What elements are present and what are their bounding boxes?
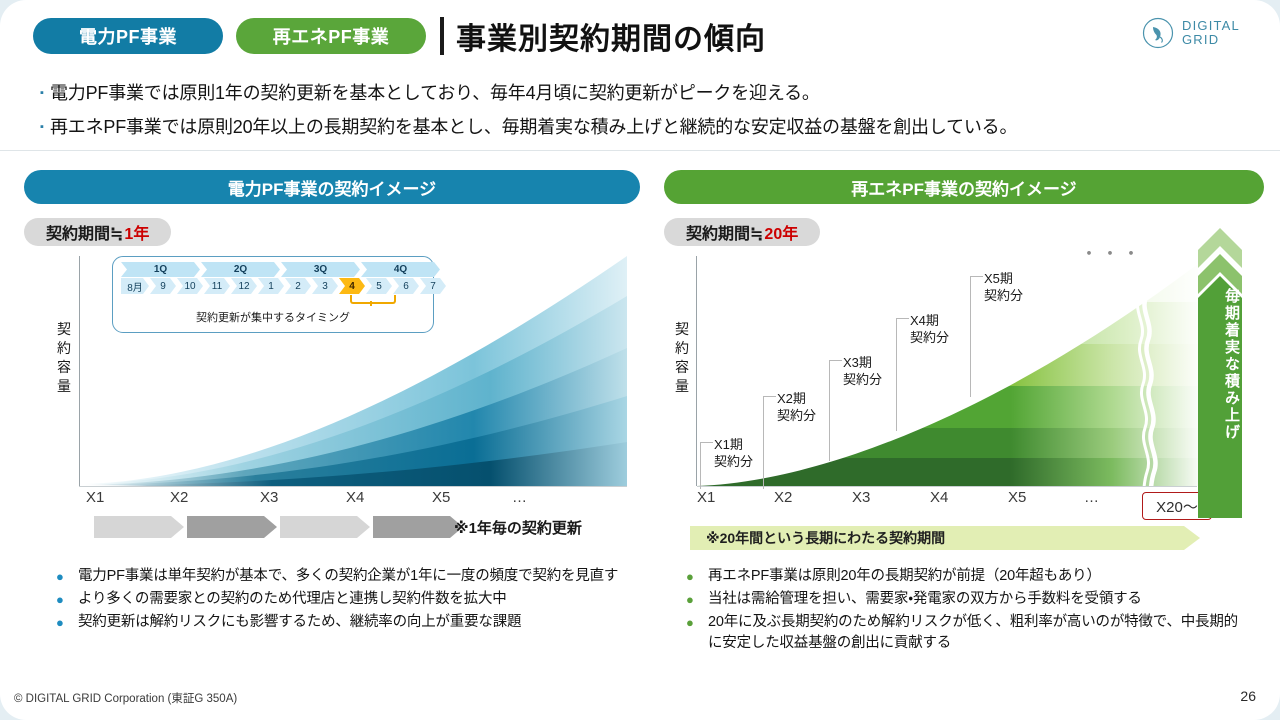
long-term-period-text: ※20年間という長期にわたる契約期間 [690,528,945,548]
left-bullet-text: 契約更新は解約リスクにも影響するため、継続率の向上が重要な課題 [78,612,521,633]
right-bullet-text: 再エネPF事業は原則20年の長期契約が前提（20年超もあり） [708,566,1101,587]
callout-leader-line [970,276,983,397]
callout-x4-line2: 契約分 [910,329,949,346]
callout-x5-line2: 契約分 [984,287,1023,304]
month-calendar-card: 1Q 2Q 3Q 4Q 8月 9 10 11 12 1 2 3 4 5 6 7 [112,256,434,333]
left-bullet-item: ● 契約更新は解約リスクにも影響するため、継続率の向上が重要な課題 [56,612,636,633]
left-contract-period-badge: 契約期間≒ 1年 [24,218,171,246]
left-badge-label: 契約期間≒ [46,220,123,244]
right-badge-value: 20年 [764,220,798,244]
right-bullet-text: 当社は需給管理を担い、需要家・発電家の双方から手数料を受領する [708,589,1142,610]
right-x-label: X5 [1008,489,1026,506]
month-cell: 5 [366,278,392,294]
brand-logo: DIGITAL GRID [1141,16,1240,50]
right-x-label: X2 [774,489,792,506]
month-bracket-stem-icon [370,301,372,306]
right-chart: 契約容量 ・・・ [664,248,1264,498]
right-x-label: X3 [852,489,870,506]
month-cell: 12 [231,278,257,294]
left-panel-header: 電力PF事業の契約イメージ [24,170,640,204]
header-divider [0,150,1280,151]
tag-saiene-pf: 再エネPF事業 [236,18,426,54]
right-x-label: X4 [930,489,948,506]
long-term-period-banner: ※20年間という長期にわたる契約期間 [690,526,1200,550]
right-x-label: … [1084,489,1099,506]
right-y-axis-label: 契約容量 [672,320,692,396]
month-cell: 2 [285,278,311,294]
bullet-dot-icon: ● [56,589,78,610]
right-bullet-item: ● 再エネPF事業は原則20年の長期契約が前提（20年超もあり） [686,566,1246,587]
left-y-axis-label: 契約容量 [54,320,74,396]
quarter-cell: 2Q [201,262,280,277]
left-bullet-item: ● より多くの需要家との契約のため代理店と連携し契約件数を拡大中 [56,589,636,610]
month-row: 8月 9 10 11 12 1 2 3 4 5 6 7 [121,278,447,294]
left-panel: 電力PF事業の契約イメージ 契約期間≒ 1年 [24,170,640,246]
renewal-arrow [280,516,370,538]
month-note-text: 契約更新が集中するタイミング [113,309,433,325]
summary-bullet-text: 電力PF事業では原則1年の契約更新を基本としており、毎年4月頃に契約更新がピーク… [50,80,820,106]
callout-x1-line1: X1期 [714,436,753,453]
right-bullet-item: ● 当社は需給管理を担い、需要家・発電家の双方から手数料を受領する [686,589,1246,610]
bullet-dot-icon: ● [686,566,708,587]
renewal-arrow [187,516,277,538]
page-title: 事業別契約期間の傾向 [456,14,766,58]
digital-grid-bird-icon [1141,16,1175,50]
left-x-label: X1 [86,489,104,506]
left-bullet-item: ● 電力PF事業は単年契約が基本で、多くの契約企業が1年に一度の頻度で契約を見直… [56,566,636,587]
left-x-label: X2 [170,489,188,506]
month-cell: 9 [150,278,176,294]
renewal-arrow [373,516,463,538]
left-bullet-text: より多くの需要家との契約のため代理店と連携し契約件数を拡大中 [78,589,507,610]
copyright-text: © DIGITAL GRID Corporation (東証G 350A) [14,690,237,706]
month-cell: 8月 [121,278,149,294]
bullet-dot-icon: ● [56,612,78,633]
bullet-dot-icon: ● [686,589,708,610]
bullet-dot-icon: ▪ [34,114,50,140]
left-x-label: X4 [346,489,364,506]
callout-x1: X1期 契約分 [714,436,753,470]
renewal-note-text: ※1年毎の契約更新 [454,517,582,538]
month-cell: 11 [204,278,230,294]
left-chart: 契約容量 [24,248,640,498]
callout-x5-line1: X5期 [984,270,1023,287]
right-bullets: ● 再エネPF事業は原則20年の長期契約が前提（20年超もあり） ● 当社は需給… [686,566,1246,656]
summary-bullet-item: ▪ 電力PF事業では原則1年の契約更新を基本としており、毎年4月頃に契約更新がピ… [34,80,1249,106]
tag-denryoku-pf: 電力PF事業 [33,18,223,54]
summary-bullets: ▪ 電力PF事業では原則1年の契約更新を基本としており、毎年4月頃に契約更新がピ… [34,80,1249,148]
accumulation-arrow-label: 毎期着実な積み上げ [1198,288,1242,441]
right-bullet-item: ● 20年に及ぶ長期契約のため解約リスクが低く、粗利率が高いのが特徴で、中長期的… [686,612,1246,654]
title-divider [440,17,444,55]
month-cell-highlighted: 4 [339,278,365,294]
quarter-cell: 1Q [121,262,200,277]
callout-x3-line2: 契約分 [843,371,882,388]
callout-x4: X4期 契約分 [910,312,949,346]
quarter-cell: 3Q [281,262,360,277]
left-x-label: X5 [432,489,450,506]
callout-x3-line1: X3期 [843,354,882,371]
accumulation-arrow: 毎期着実な積み上げ [1198,228,1242,518]
quarter-cell: 4Q [361,262,440,277]
brand-line-2: GRID [1182,33,1240,47]
slide-header: 電力PF事業 再エネPF事業 事業別契約期間の傾向 DIGITAL GRID [0,18,1280,70]
callout-x2-line2: 契約分 [777,407,816,424]
month-cell: 1 [258,278,284,294]
month-bracket-icon [350,295,396,304]
month-cell: 6 [393,278,419,294]
callout-x2-line1: X2期 [777,390,816,407]
renewal-arrow-row [94,516,466,538]
callout-leader-line [829,360,842,461]
bullet-dot-icon: ● [56,566,78,587]
brand-line-1: DIGITAL [1182,19,1240,33]
right-contract-period-badge: 契約期間≒ 20年 [664,218,820,246]
right-bullet-text: 20年に及ぶ長期契約のため解約リスクが低く、粗利率が高いのが特徴で、中長期的に安… [708,612,1246,654]
left-badge-value: 1年 [124,220,149,244]
right-x-label: X1 [697,489,715,506]
left-bullets: ● 電力PF事業は単年契約が基本で、多くの契約企業が1年に一度の頻度で契約を見直… [56,566,636,635]
left-x-label: X3 [260,489,278,506]
callout-x5: X5期 契約分 [984,270,1023,304]
callout-x1-line2: 契約分 [714,453,753,470]
right-badge-label: 契約期間≒ [686,220,763,244]
summary-bullet-text: 再エネPF事業では原則20年以上の長期契約を基本とし、毎期着実な積み上げと継続的… [50,114,1017,140]
brand-logo-text: DIGITAL GRID [1182,19,1240,47]
month-cell: 7 [420,278,446,294]
summary-bullet-item: ▪ 再エネPF事業では原則20年以上の長期契約を基本とし、毎期着実な積み上げと継… [34,114,1249,140]
bullet-dot-icon: ▪ [34,80,50,106]
left-x-label: … [512,489,527,506]
callout-x3: X3期 契約分 [843,354,882,388]
left-x-axis [79,486,627,487]
renewal-arrow [94,516,184,538]
callout-leader-line [896,318,909,431]
page-number: 26 [1240,688,1256,704]
right-panel: 再エネPF事業の契約イメージ 契約期間≒ 20年 [664,170,1264,246]
quarter-row: 1Q 2Q 3Q 4Q [121,262,441,277]
left-bullet-text: 電力PF事業は単年契約が基本で、多くの契約企業が1年に一度の頻度で契約を見直す [78,566,618,587]
bullet-dot-icon: ● [686,612,708,633]
right-panel-header: 再エネPF事業の契約イメージ [664,170,1264,204]
month-cell: 10 [177,278,203,294]
callout-leader-line [763,396,776,489]
callout-x4-line1: X4期 [910,312,949,329]
month-cell: 3 [312,278,338,294]
callout-leader-line [700,442,713,489]
callout-x2: X2期 契約分 [777,390,816,424]
slide-root: 電力PF事業 再エネPF事業 事業別契約期間の傾向 DIGITAL GRID ▪… [0,0,1280,720]
